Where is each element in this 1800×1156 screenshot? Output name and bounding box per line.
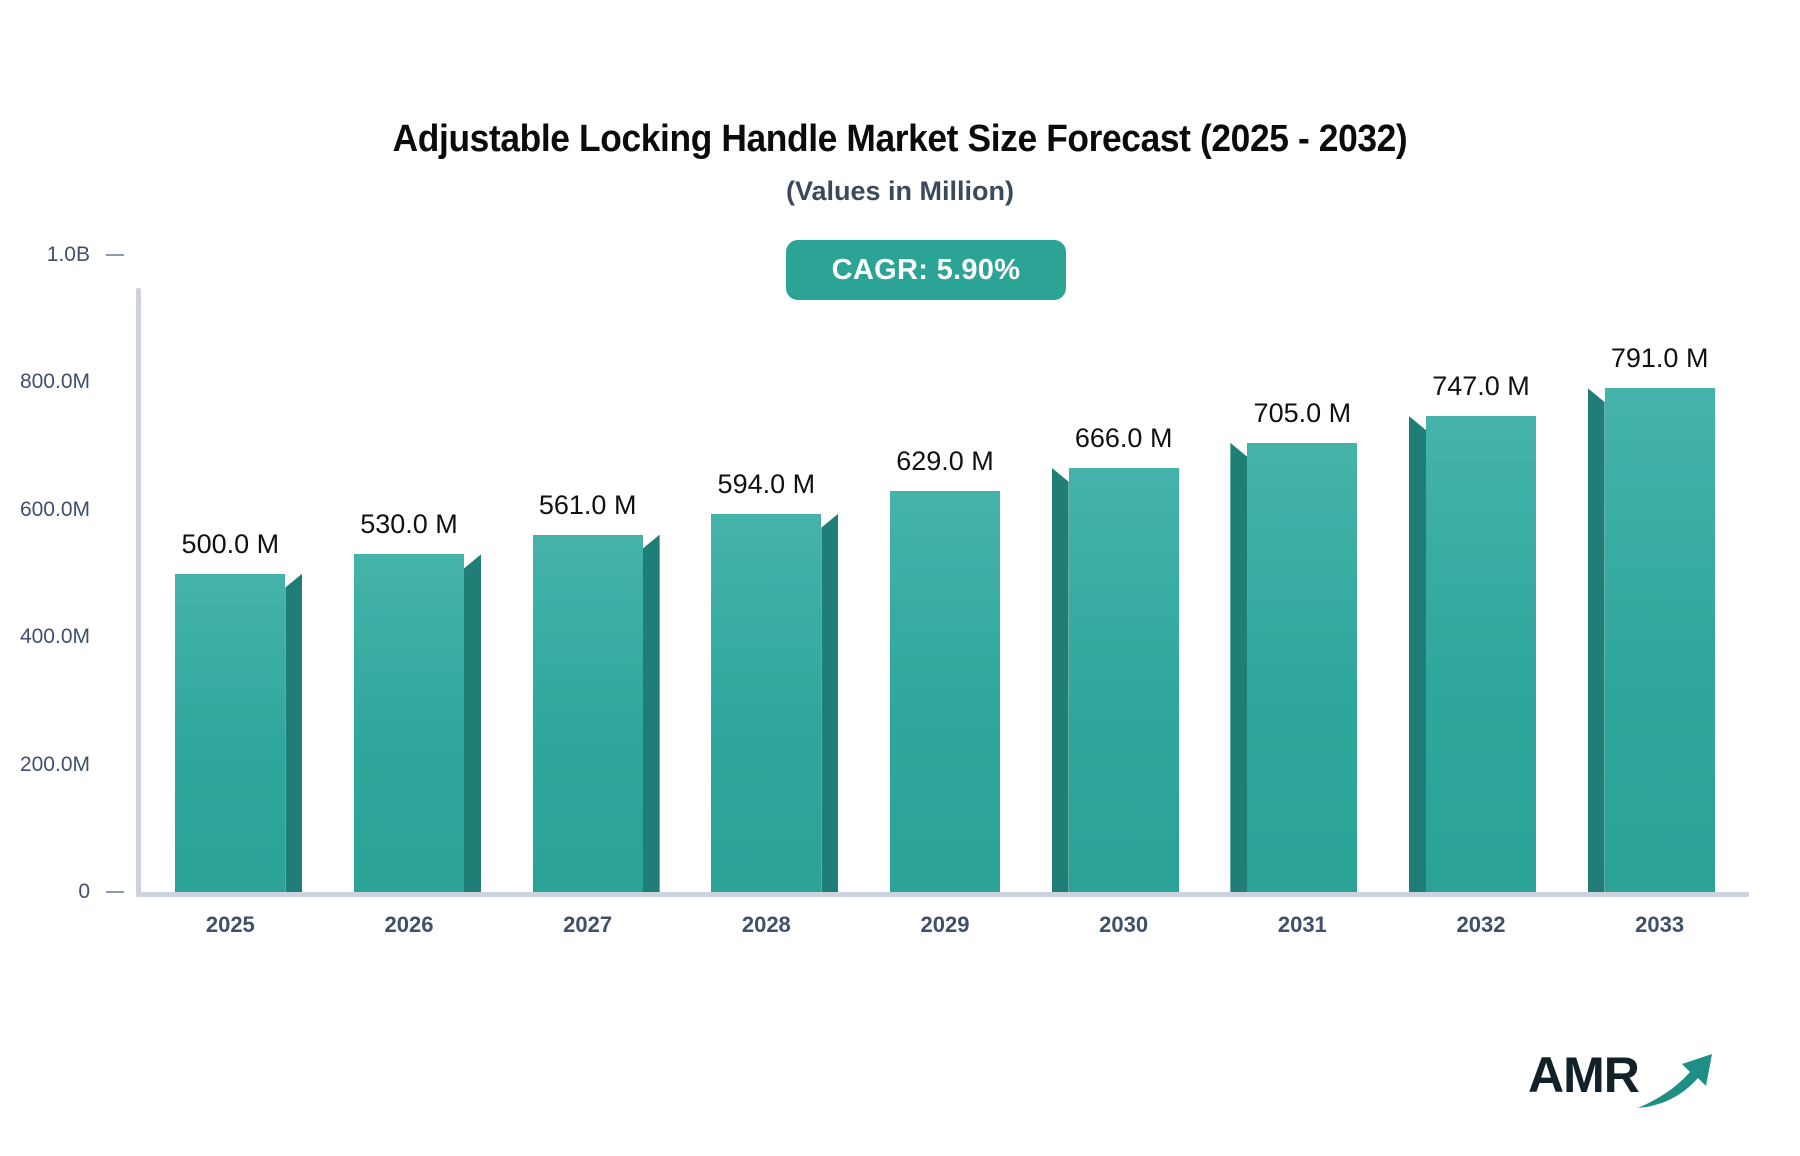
bar-column[interactable]: 666.0 M xyxy=(1069,468,1179,892)
plot-area: 0200.0M400.0M600.0M800.0M1.0B 500.0 M530… xyxy=(0,0,1800,1156)
amr-logo: AMR xyxy=(1528,1048,1718,1120)
x-axis-label: 2026 xyxy=(385,912,434,938)
bar-value-label: 561.0 M xyxy=(539,490,637,521)
y-axis-tick-label: 0 xyxy=(0,880,90,904)
bar-front-face xyxy=(1069,468,1179,892)
bar-side-face xyxy=(1588,388,1605,892)
bar-side-face xyxy=(643,535,660,892)
bar-column[interactable]: 705.0 M xyxy=(1247,443,1357,892)
bar-value-label: 500.0 M xyxy=(182,529,280,560)
bar-value-label: 594.0 M xyxy=(718,469,816,500)
bar-value-label: 791.0 M xyxy=(1611,343,1709,374)
y-axis-line xyxy=(136,288,141,896)
y-axis-tick-label: 1.0B xyxy=(0,243,90,267)
bar-front-face xyxy=(711,514,821,892)
bar-side-face xyxy=(1052,468,1069,892)
bar-front-face xyxy=(175,574,285,893)
x-axis-label: 2029 xyxy=(921,912,970,938)
y-axis-tick-label: 600.0M xyxy=(0,498,90,522)
y-axis-tick-mark xyxy=(106,254,124,256)
bar-value-label: 530.0 M xyxy=(360,509,458,540)
x-axis-label: 2030 xyxy=(1099,912,1148,938)
bar-column[interactable]: 629.0 M xyxy=(890,491,1000,892)
bar-column[interactable]: 500.0 M xyxy=(175,574,285,893)
y-axis-tick-mark xyxy=(106,891,124,893)
bar-front-face xyxy=(1426,416,1536,892)
x-axis-label: 2027 xyxy=(563,912,612,938)
bar-side-face xyxy=(1409,416,1426,892)
x-axis-line xyxy=(136,892,1749,897)
bar-column[interactable]: 594.0 M xyxy=(711,514,821,892)
bar-column[interactable]: 561.0 M xyxy=(533,535,643,892)
x-axis-label: 2032 xyxy=(1457,912,1506,938)
bar-column[interactable]: 747.0 M xyxy=(1426,416,1536,892)
bar-front-face xyxy=(890,491,1000,892)
bar-value-label: 747.0 M xyxy=(1432,371,1530,402)
bar-value-label: 629.0 M xyxy=(896,446,994,477)
y-axis-tick-label: 200.0M xyxy=(0,753,90,777)
bar-front-face xyxy=(533,535,643,892)
bar-front-face xyxy=(1247,443,1357,892)
y-axis-tick-label: 800.0M xyxy=(0,370,90,394)
bar-side-face xyxy=(285,574,302,893)
bar-column[interactable]: 530.0 M xyxy=(354,554,464,892)
bar-side-face xyxy=(464,554,481,892)
bar-front-face xyxy=(354,554,464,892)
amr-logo-text: AMR xyxy=(1528,1050,1639,1100)
bar-side-face xyxy=(821,514,838,892)
growth-arrow-icon xyxy=(1636,1050,1716,1119)
x-axis-label: 2031 xyxy=(1278,912,1327,938)
bar-value-label: 705.0 M xyxy=(1254,398,1352,429)
bar-side-face xyxy=(1230,443,1247,892)
x-axis-label: 2028 xyxy=(742,912,791,938)
bar-column[interactable]: 791.0 M xyxy=(1605,388,1715,892)
bar-front-face xyxy=(1605,388,1715,892)
bar-value-label: 666.0 M xyxy=(1075,423,1173,454)
x-axis-label: 2033 xyxy=(1635,912,1684,938)
y-axis-tick-label: 400.0M xyxy=(0,625,90,649)
x-axis-label: 2025 xyxy=(206,912,255,938)
chart-canvas: Adjustable Locking Handle Market Size Fo… xyxy=(0,0,1800,1156)
